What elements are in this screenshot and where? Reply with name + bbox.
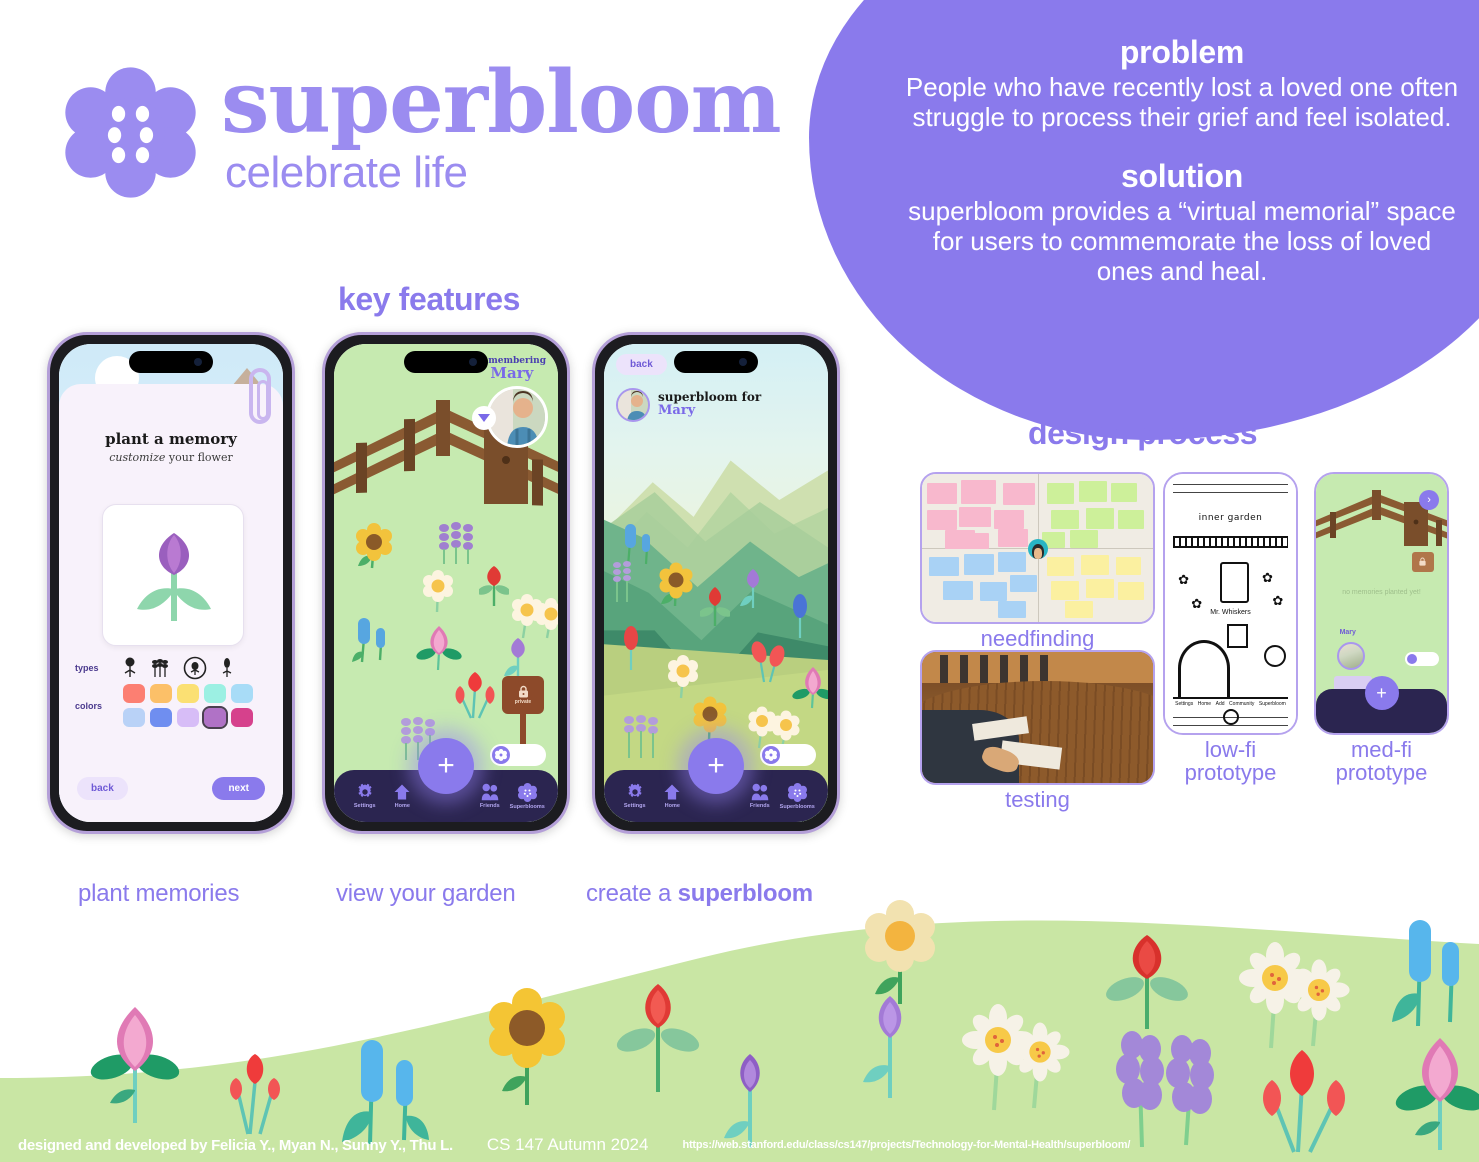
lavender-type-icon[interactable]: [151, 657, 169, 679]
phone-mockup-garden: remembering Mary private +: [322, 332, 570, 834]
peony-icon: [792, 662, 828, 710]
back-button[interactable]: back: [77, 777, 128, 800]
red-bud-icon: [618, 626, 644, 672]
nav-item-settings[interactable]: Settings: [346, 783, 384, 809]
photo-user-testing: [922, 652, 1153, 783]
hyacinth-icon: [352, 616, 394, 664]
flower-toggle-icon: [762, 746, 780, 764]
memorial-name: Mary: [1340, 629, 1356, 636]
flower-decoration: [950, 996, 1080, 1116]
header-line-2: Mary: [658, 404, 761, 419]
design-process-lowfi: inner garden Mr. Whiskers ✿ ✿ ✿ ✿ Settin…: [1163, 472, 1298, 785]
project-url[interactable]: https://web.stanford.edu/class/cs147/pro…: [682, 1139, 1130, 1151]
sheet-subtitle: customize your flower: [59, 451, 283, 464]
tulip-trio-icon: [449, 668, 501, 720]
phone-notch: [674, 351, 758, 373]
fence-graphic: [1314, 476, 1449, 546]
tulip-icon: [479, 564, 509, 608]
add-memory-fab[interactable]: +: [418, 738, 474, 794]
blue-bud-icon: [786, 594, 814, 640]
caption-plant-memories: plant memories: [78, 880, 239, 908]
remembering-label-group: remembering Mary: [478, 356, 546, 381]
gear-icon: [626, 783, 644, 801]
empty-state-text: no memories planted yet!: [1316, 588, 1447, 597]
figma-mock: › no memories planted yet! Mary +: [1316, 474, 1447, 733]
person-name: Mary: [478, 366, 546, 381]
color-swatch[interactable]: [123, 684, 145, 703]
color-swatch-selected[interactable]: [204, 708, 226, 727]
add-memory-fab[interactable]: +: [1365, 676, 1399, 710]
problem-body: People who have recently lost a loved on…: [902, 73, 1462, 132]
sheet-title: plant a memory: [59, 430, 283, 448]
lock-icon: [1418, 557, 1427, 566]
design-process-testing: testing: [920, 650, 1155, 811]
rose-type-icon[interactable]: [123, 657, 137, 679]
bloom-flower-logo-icon: [788, 783, 807, 802]
home-icon: [393, 783, 411, 801]
add-memory-fab[interactable]: +: [688, 738, 744, 794]
next-button[interactable]: next: [212, 777, 265, 800]
nav-item-settings[interactable]: Settings: [616, 783, 654, 809]
poster: problem People who have recently lost a …: [0, 0, 1479, 1162]
course-text: CS 147 Autumn 2024: [487, 1135, 649, 1155]
color-swatch[interactable]: [231, 708, 253, 727]
friends-icon: [480, 783, 500, 801]
color-swatch[interactable]: [123, 708, 145, 727]
key-features-heading: key features: [338, 281, 520, 318]
flower-decoration: [480, 985, 575, 1110]
daisy-icon: [666, 654, 702, 700]
nav-item-home[interactable]: Home: [384, 783, 422, 809]
types-row: types: [75, 656, 273, 680]
participant-avatar: [1028, 539, 1048, 559]
bud-type-icon[interactable]: [221, 657, 233, 679]
tulip-type-icon-selected[interactable]: [183, 656, 207, 680]
private-sign[interactable]: private: [502, 676, 544, 714]
credits-text: designed and developed by Felicia Y., My…: [18, 1137, 453, 1154]
nav-label: Superblooms: [780, 804, 815, 810]
tulip-icon: [700, 584, 730, 628]
flower-decoration: [608, 976, 708, 1096]
caption-lowfi: low-fiprototype: [1163, 738, 1298, 785]
private-label: private: [515, 699, 531, 705]
nav-label: Settings: [624, 803, 646, 809]
sunflower-icon: [692, 696, 732, 742]
colors-label: colors: [75, 701, 113, 711]
phone-notch: [129, 351, 213, 373]
brand-lockup: superbloom celebrate life: [64, 62, 781, 199]
header-line-1: superbloom for: [658, 391, 761, 405]
nav-item-superblooms[interactable]: Superblooms: [779, 783, 817, 810]
sign-post: [520, 712, 526, 744]
solution-body: superbloom provides a “virtual memorial”…: [902, 197, 1462, 286]
nav-label: Superblooms: [510, 804, 545, 810]
nav-label: Home: [665, 803, 680, 809]
plant-memory-sheet: plant a memory customize your flower typ…: [59, 384, 283, 822]
flower-decoration: [210, 1030, 300, 1140]
brand-name: superbloom: [221, 62, 781, 144]
caption-testing: testing: [920, 788, 1155, 811]
avatar: [1337, 642, 1365, 670]
gear-icon: [356, 783, 374, 801]
nav-item-friends[interactable]: Friends: [741, 783, 779, 809]
sketch-title: inner garden: [1165, 513, 1296, 523]
color-row-2: [123, 708, 253, 727]
friends-icon: [750, 783, 770, 801]
chevron-down-icon[interactable]: [472, 406, 496, 430]
brand-tagline: celebrate life: [225, 148, 781, 198]
back-button[interactable]: back: [616, 354, 667, 375]
color-swatch[interactable]: [177, 708, 199, 727]
sunflower-icon: [658, 562, 698, 608]
sunflower-icon: [354, 522, 398, 570]
visibility-toggle[interactable]: [760, 744, 816, 766]
color-swatch[interactable]: [177, 684, 199, 703]
caption-needfinding: needfinding: [920, 627, 1155, 650]
flower-decoration: [855, 900, 945, 1010]
design-process-medfi: › no memories planted yet! Mary + med-fi…: [1314, 472, 1449, 785]
lavender-cluster-icon: [434, 520, 482, 568]
flower-toggle-icon: [492, 746, 510, 764]
nav-label: Settings: [354, 803, 376, 809]
bloom-flower-logo-icon: [518, 783, 537, 802]
tulip-pair-icon: [744, 640, 788, 684]
color-swatch[interactable]: [231, 684, 253, 703]
purple-tulip-icon: [502, 634, 534, 682]
nav-label: Friends: [480, 803, 500, 809]
paperclip-icon: [249, 368, 271, 424]
paper-sketch: inner garden Mr. Whiskers ✿ ✿ ✿ ✿ Settin…: [1165, 474, 1296, 733]
private-sign[interactable]: [1412, 552, 1434, 572]
peony-icon: [416, 622, 462, 672]
lavender-icon: [608, 560, 648, 604]
flower-decoration: [1095, 929, 1200, 1034]
color-row-1: [123, 684, 253, 703]
phone-mockup-superbloom: back superbloom for Mary + Sett: [592, 332, 840, 834]
poster-footer: designed and developed by Felicia Y., My…: [0, 1128, 1479, 1162]
flower-preview-card: [102, 504, 244, 646]
design-process-needfinding: needfinding: [920, 472, 1155, 650]
color-swatch[interactable]: [150, 708, 172, 727]
types-label: types: [75, 663, 113, 673]
lock-icon: [517, 685, 530, 698]
caption-view-garden: view your garden: [336, 880, 516, 908]
color-swatch[interactable]: [150, 684, 172, 703]
solution-heading: solution: [902, 158, 1462, 195]
next-arrow-button[interactable]: ›: [1419, 490, 1439, 510]
nav-item-friends[interactable]: Friends: [471, 783, 509, 809]
sketch-label: Mr. Whiskers: [1165, 609, 1296, 616]
visibility-toggle[interactable]: [1405, 652, 1439, 666]
visibility-toggle[interactable]: [490, 744, 546, 766]
phone-notch: [404, 351, 488, 373]
caption-create-superbloom: create a superbloom: [586, 880, 813, 908]
color-swatch[interactable]: [204, 684, 226, 703]
colors-row: colors: [75, 684, 273, 727]
problem-solution-text: problem People who have recently lost a …: [902, 34, 1462, 286]
nav-label: Friends: [750, 803, 770, 809]
sticky-note-board: [922, 474, 1153, 622]
problem-heading: problem: [902, 34, 1462, 71]
nav-item-home[interactable]: Home: [654, 783, 692, 809]
superbloom-header: superbloom for Mary: [616, 388, 761, 422]
nav-label: Home: [395, 803, 410, 809]
daisy-icon: [422, 570, 456, 614]
purple-tulip-icon: [739, 566, 767, 610]
flower-decoration: [1380, 902, 1479, 1032]
sketch-nav: Settings Home Add Community Superbloom: [1173, 701, 1288, 707]
design-process-heading: design process: [1028, 415, 1257, 452]
tulip-preview-icon: [103, 505, 245, 647]
lavender-icon: [618, 714, 668, 760]
phone-mockup-plant-memory: plant a memory customize your flower typ…: [47, 332, 295, 834]
flower-decoration: [80, 995, 190, 1130]
avatar[interactable]: [616, 388, 650, 422]
caption-medfi: med-fiprototype: [1314, 738, 1449, 785]
bloom-flower-logo-icon: [64, 66, 197, 199]
nav-item-superblooms[interactable]: Superblooms: [509, 783, 547, 810]
home-icon: [663, 783, 681, 801]
